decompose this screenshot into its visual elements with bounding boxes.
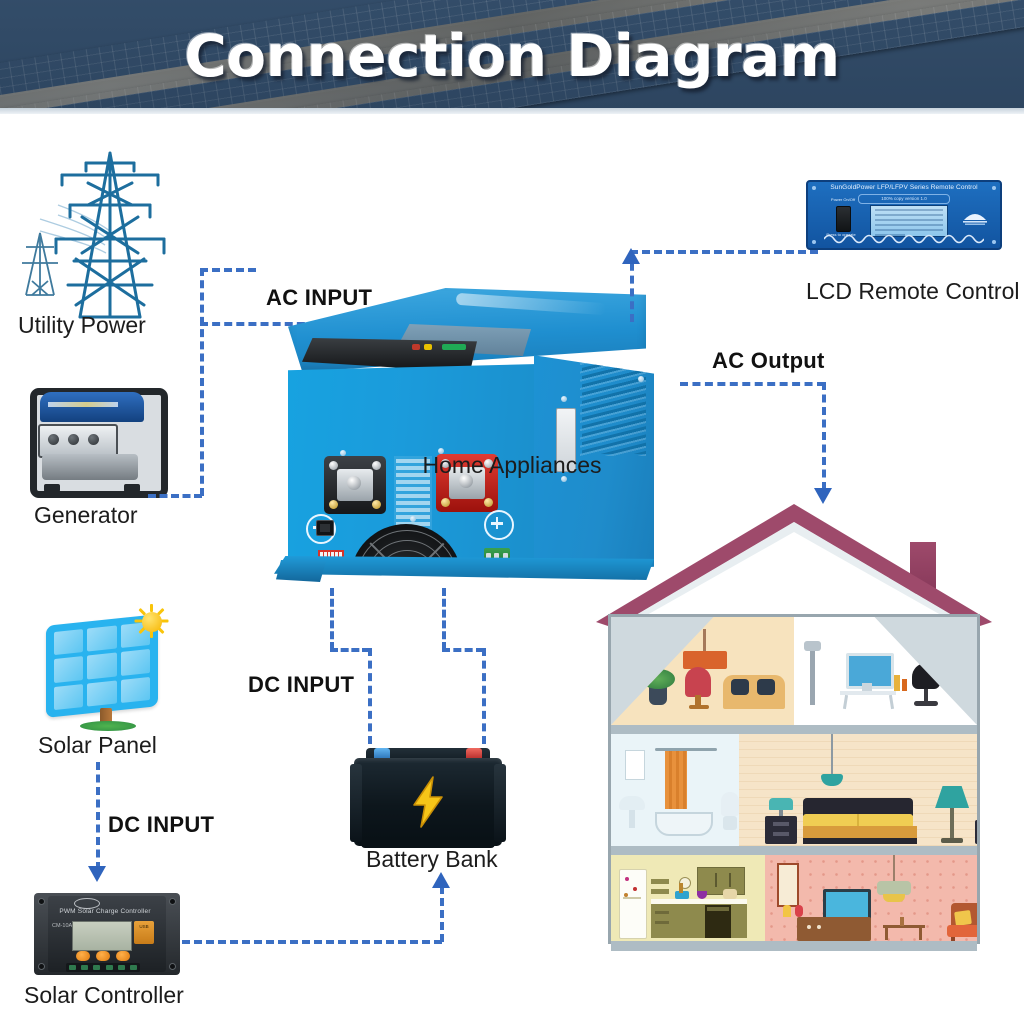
dc-solar-line bbox=[96, 762, 100, 870]
refrigerator bbox=[619, 869, 647, 939]
remote-device-title: SunGoldPower LFP/LFPV Series Remote Cont… bbox=[806, 184, 1002, 191]
wall-art bbox=[777, 863, 799, 907]
dc-line-neg-v1 bbox=[330, 588, 334, 650]
tv-stand bbox=[797, 917, 871, 941]
positive-symbol-icon bbox=[484, 510, 514, 540]
bathtub bbox=[655, 812, 713, 836]
floor-lamp bbox=[810, 647, 815, 705]
battery-bank-label: Battery Bank bbox=[366, 846, 498, 873]
bedroom bbox=[739, 734, 977, 846]
sink bbox=[619, 796, 645, 810]
controller-battery-line-v bbox=[440, 886, 444, 942]
remote-line-horizontal bbox=[630, 250, 818, 254]
pendant-lamp bbox=[683, 651, 727, 669]
controller-device-title: PWM Solar Charge Controller bbox=[56, 908, 154, 915]
sine-wave-graphic bbox=[824, 232, 984, 246]
living-room bbox=[765, 855, 977, 941]
solar-controller-label: Solar Controller bbox=[24, 982, 184, 1009]
home-appliances-label: Home Appliances bbox=[0, 452, 1024, 479]
sun-icon bbox=[134, 604, 168, 638]
sungoldpower-logo-icon bbox=[961, 208, 989, 228]
controller-button-1[interactable] bbox=[76, 951, 90, 961]
controller-usb-label: USB bbox=[134, 921, 154, 944]
kitchen bbox=[611, 855, 765, 941]
header-banner: Connection Diagram bbox=[0, 0, 1024, 112]
desk bbox=[840, 691, 896, 695]
house-body bbox=[608, 614, 980, 944]
banner-divider bbox=[0, 108, 1024, 114]
transmission-tower-icon bbox=[10, 135, 195, 325]
sofa-seat bbox=[947, 925, 977, 937]
bathroom bbox=[611, 734, 739, 846]
controller-button-3[interactable] bbox=[116, 951, 130, 961]
remote-arrow bbox=[622, 248, 640, 264]
controller-lcd-screen bbox=[72, 921, 132, 951]
toilet bbox=[721, 792, 739, 816]
remote-device-subtitle: 100% copy version 1.0 bbox=[858, 194, 950, 204]
dc-input-battery-label: DC INPUT bbox=[248, 672, 354, 698]
dresser bbox=[975, 820, 977, 844]
dc-solar-arrow bbox=[88, 866, 106, 882]
battery-icon bbox=[348, 742, 508, 852]
remote-power-switch[interactable] bbox=[836, 206, 851, 232]
solar-panel-label: Solar Panel bbox=[38, 732, 157, 759]
attic-office bbox=[794, 617, 977, 725]
ceiling-lamp bbox=[821, 774, 843, 786]
controller-port-strip bbox=[66, 963, 140, 972]
lcd-remote-icon[interactable]: SunGoldPower LFP/LFPV Series Remote Cont… bbox=[806, 180, 1002, 250]
floor-lamp-shade bbox=[935, 786, 969, 808]
nightstand bbox=[765, 816, 797, 844]
chandelier bbox=[877, 881, 911, 895]
dc-input-solar-label: DC INPUT bbox=[108, 812, 214, 838]
attic-living-room bbox=[611, 617, 794, 725]
solar-panel-icon bbox=[38, 604, 178, 729]
ac-output-line-horizontal bbox=[680, 382, 825, 386]
ac-input-line-top bbox=[200, 268, 256, 272]
bath-mirror bbox=[625, 750, 645, 780]
page-title: Connection Diagram bbox=[0, 22, 1024, 90]
utility-power-label: Utility Power bbox=[18, 312, 146, 339]
port-left bbox=[316, 520, 334, 536]
dc-line-neg-v2 bbox=[368, 648, 372, 744]
armchair bbox=[685, 667, 711, 697]
connection-diagram: Connection Diagram bbox=[0, 0, 1024, 1024]
remote-switch-top-label: Power On/Off bbox=[826, 197, 860, 202]
house-cutaway-icon bbox=[592, 500, 996, 970]
lightning-bolt-icon bbox=[400, 774, 456, 830]
roof bbox=[592, 500, 996, 628]
ac-output-label: AC Output bbox=[712, 348, 825, 374]
controller-model: CM-10A bbox=[52, 923, 72, 929]
dc-line-pos-v2 bbox=[482, 648, 486, 744]
charge-controller-icon: PWM Solar Charge Controller CM-10A USB bbox=[34, 893, 180, 975]
shower-curtain bbox=[665, 751, 687, 809]
dc-line-neg-h bbox=[330, 648, 370, 652]
port-right bbox=[488, 580, 506, 596]
table-lamp bbox=[769, 798, 793, 810]
generator-label: Generator bbox=[34, 502, 138, 529]
lcd-remote-label: LCD Remote Control bbox=[806, 278, 1019, 305]
office-chair bbox=[912, 663, 940, 689]
ground-lug bbox=[490, 610, 514, 630]
ac-input-line-generator bbox=[148, 494, 202, 498]
controller-battery-arrow bbox=[432, 872, 450, 888]
dc-line-pos-v1 bbox=[442, 588, 446, 650]
controller-button-2[interactable] bbox=[96, 951, 110, 961]
controller-battery-line-h bbox=[182, 940, 442, 944]
dc-line-pos-h bbox=[442, 648, 484, 652]
